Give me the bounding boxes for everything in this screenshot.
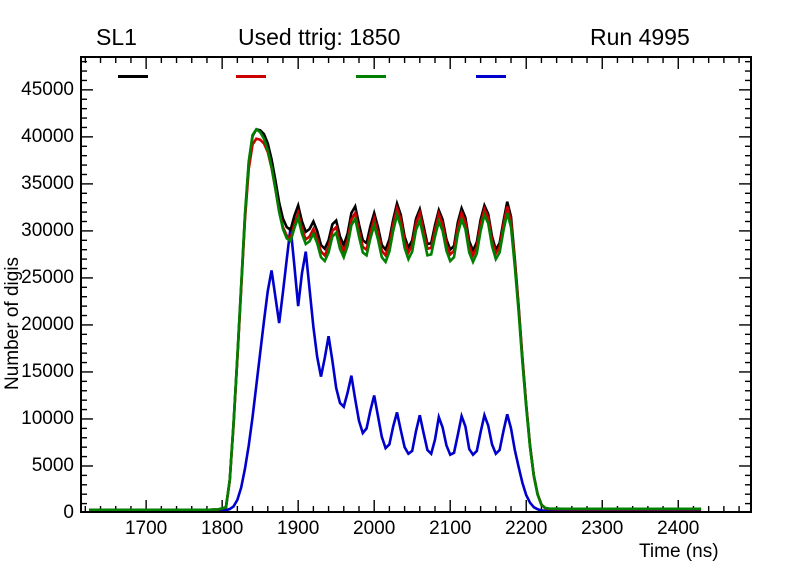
legend-item-L2[interactable] [236, 63, 272, 89]
x-tick-label-2400: 2400 [657, 518, 699, 540]
x-tick-label-1700: 1700 [125, 518, 167, 540]
x-tick-label-1900: 1900 [277, 518, 319, 540]
x-tick-label-2200: 2200 [505, 518, 547, 540]
root-figure: SL1 Used ttrig: 1850 Run 4995 Number of … [0, 0, 796, 572]
legend-swatch-L2 [236, 75, 266, 78]
x-tick-label-1800: 1800 [201, 518, 243, 540]
legend [118, 63, 588, 89]
x-tick-label-2300: 2300 [581, 518, 623, 540]
x-tick-label-2100: 2100 [429, 518, 471, 540]
x-tick-label-2000: 2000 [353, 518, 395, 540]
legend-item-L1[interactable] [118, 63, 154, 89]
legend-swatch-L4 [476, 75, 506, 78]
plot-frame [80, 56, 752, 513]
legend-item-L3[interactable] [356, 63, 392, 89]
legend-swatch-L3 [356, 75, 386, 78]
legend-item-L4[interactable] [476, 63, 512, 89]
legend-swatch-L1 [118, 75, 148, 78]
